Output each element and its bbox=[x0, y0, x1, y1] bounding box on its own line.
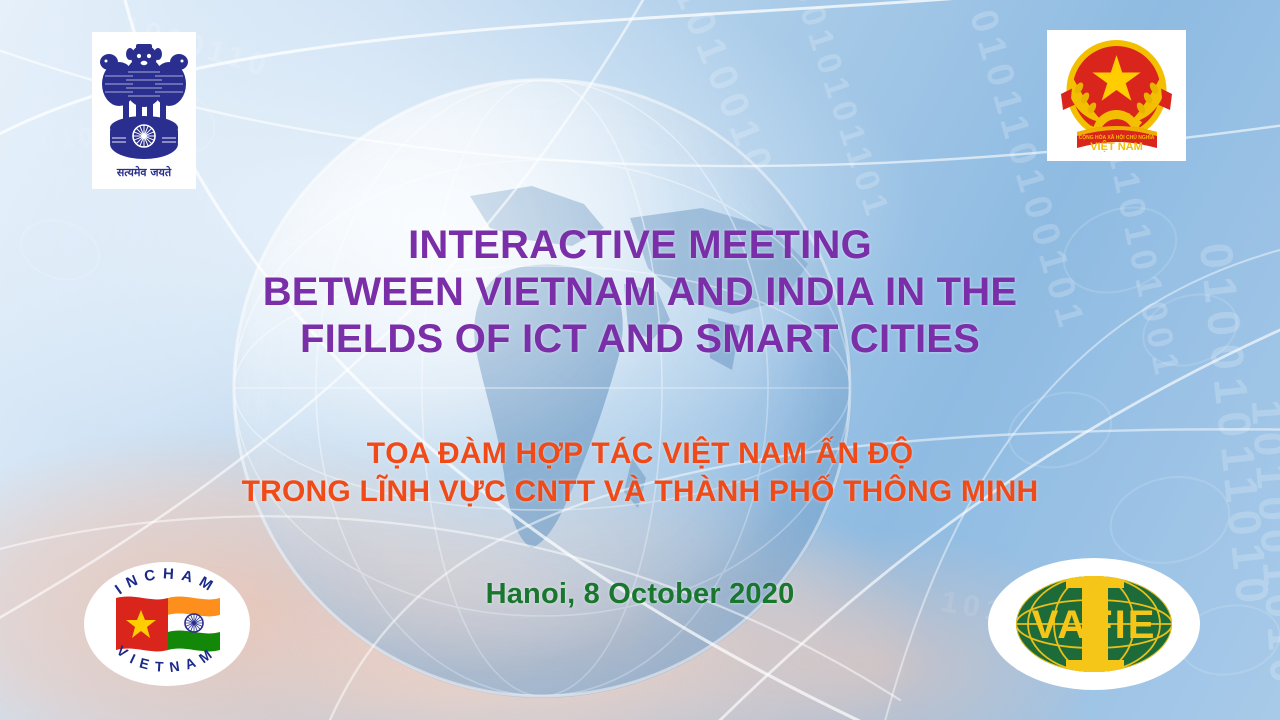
page-subtitle-vietnamese: TỌA ĐÀM HỢP TÁC VIỆT NAM ẤN ĐỘ TRONG LĨN… bbox=[0, 435, 1280, 511]
page-title: INTERACTIVE MEETING BETWEEN VIETNAM AND … bbox=[0, 222, 1280, 363]
india-emblem-logo: सत्यमेव जयते bbox=[92, 32, 196, 189]
vietnam-emblem-logo: CỘNG HÒA XÃ HỘI CHỦ NGHĨA VIỆT NAM bbox=[1047, 30, 1186, 161]
event-date-location: Hanoi, 8 October 2020 bbox=[0, 578, 1280, 611]
vietnam-emblem-ribbon-bottom: VIỆT NAM bbox=[1090, 140, 1143, 153]
national-emblem-of-vietnam-icon: CỘNG HÒA XÃ HỘI CHỦ NGHĨA VIỆT NAM bbox=[1047, 30, 1186, 161]
presentation-slide: 0101010010 10010101101 010110100101 1010… bbox=[0, 0, 1280, 720]
state-emblem-of-india-icon: सत्यमेव जयते bbox=[92, 32, 196, 189]
india-emblem-motto: सत्यमेव जयते bbox=[116, 165, 172, 179]
vietnam-emblem-ribbon-top: CỘNG HÒA XÃ HỘI CHỦ NGHĨA bbox=[1079, 133, 1155, 141]
